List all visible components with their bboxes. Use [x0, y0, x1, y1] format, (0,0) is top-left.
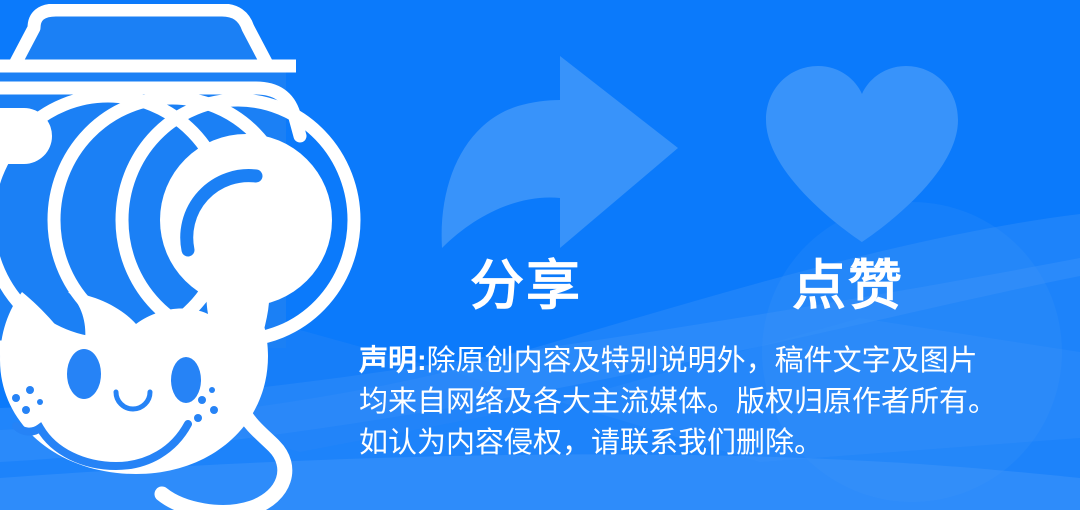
disclaimer-lead: 声明:: [359, 345, 427, 377]
disclaimer-line-1-rest: 除原创内容及特别说明外，稿件文字及图片: [427, 345, 978, 377]
cat-freckle: [12, 394, 20, 402]
share-label: 分享: [470, 259, 582, 313]
cat-freckle: [22, 406, 30, 414]
camera-viewfinder: [14, 10, 268, 66]
promo-banner: 分享 点赞 声明:除原创内容及特别说明外，稿件文字及图片 均来自网络及各大主流媒…: [0, 0, 1080, 510]
like-label: 点赞: [792, 259, 904, 313]
share-arrow-icon[interactable]: [432, 52, 684, 252]
cat-freckle: [210, 406, 218, 414]
heart-glyph: [762, 64, 962, 246]
camera-cat-mascot-illustration: [0, 4, 376, 510]
cat-freckle: [198, 396, 206, 404]
cat-eye-right: [171, 357, 201, 403]
disclaimer-line-2: 均来自网络及各大主流媒体。版权归原作者所有。: [359, 382, 1059, 423]
cat-eye-left: [67, 349, 101, 399]
heart-icon[interactable]: [762, 64, 962, 246]
share-arrow-glyph: [432, 52, 684, 252]
mascot-graphic: [0, 4, 376, 510]
cat-freckle: [209, 387, 215, 393]
heart-shape: [766, 66, 958, 242]
cat-freckle: [26, 386, 34, 394]
disclaimer-line-1: 声明:除原创内容及特别说明外，稿件文字及图片: [359, 341, 1059, 382]
cat-freckle: [37, 399, 43, 405]
disclaimer-text: 声明:除原创内容及特别说明外，稿件文字及图片 均来自网络及各大主流媒体。版权归原…: [359, 341, 1059, 464]
cat-freckle: [194, 414, 202, 422]
share-arrow-shape: [442, 56, 678, 248]
disclaimer-line-3: 如认为内容侵权，请联系我们删除。: [359, 423, 1059, 464]
